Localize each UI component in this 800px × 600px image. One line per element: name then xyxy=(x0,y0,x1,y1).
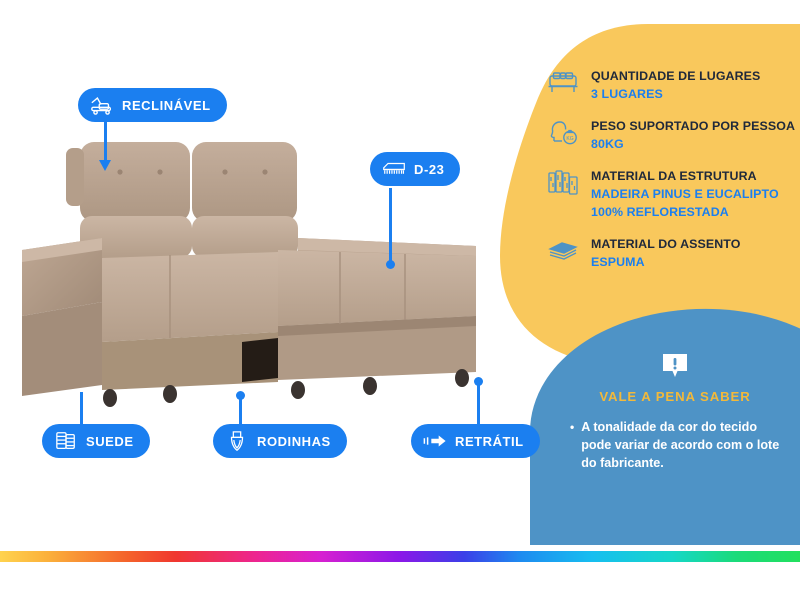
leader-dot-d23 xyxy=(386,260,395,269)
callout-label: RODINHAS xyxy=(257,434,331,449)
good-to-know-block: VALE A PENA SABER • A tonalidade da cor … xyxy=(560,352,790,473)
warning-bubble-icon xyxy=(560,352,790,380)
note-list-item: • A tonalidade da cor do tecido pode var… xyxy=(560,419,790,473)
note-title: VALE A PENA SABER xyxy=(560,389,790,404)
callout-rodinhas[interactable]: RODINHAS xyxy=(213,424,347,458)
callout-label: SUEDE xyxy=(86,434,134,449)
svg-text:KG: KG xyxy=(566,136,573,142)
leader-line-reclinavel xyxy=(104,121,107,165)
rainbow-divider xyxy=(0,551,800,562)
spec-title: PESO SUPORTADO POR PESSOA xyxy=(591,119,795,133)
infographic-canvas: QUANTIDADE DE LUGARES 3 LUGARES KG PESO … xyxy=(0,0,800,600)
spec-item-weight: KG PESO SUPORTADO POR PESSOA 80KG xyxy=(546,116,796,153)
foam-layers-icon xyxy=(546,234,580,268)
spec-title: MATERIAL DA ESTRUTURA xyxy=(591,169,757,183)
note-text: A tonalidade da cor do tecido pode varia… xyxy=(581,419,790,473)
sofa-icon xyxy=(546,66,580,100)
leader-arrow-reclinavel xyxy=(99,160,111,171)
leader-line-suede xyxy=(80,392,83,428)
callout-suede[interactable]: SUEDE xyxy=(42,424,150,458)
callout-reclinavel[interactable]: RECLINÁVEL xyxy=(78,88,227,122)
callout-retratil[interactable]: RETRÁTIL xyxy=(411,424,540,458)
person-weight-icon: KG xyxy=(546,116,580,150)
spec-item-seats: QUANTIDADE DE LUGARES 3 LUGARES xyxy=(546,66,796,103)
spec-list: QUANTIDADE DE LUGARES 3 LUGARES KG PESO … xyxy=(546,66,796,284)
spec-value: ESPUMA xyxy=(591,255,645,269)
spec-title: MATERIAL DO ASSENTO xyxy=(591,237,740,251)
fabric-swatch-icon xyxy=(54,431,78,451)
leader-dot-rodinhas xyxy=(236,391,245,400)
callout-label: D-23 xyxy=(414,162,444,177)
foam-density-icon xyxy=(382,159,406,179)
spec-value: 80KG xyxy=(591,137,624,151)
spec-item-seat-material: MATERIAL DO ASSENTO ESPUMA xyxy=(546,234,796,271)
callout-label: RECLINÁVEL xyxy=(122,98,211,113)
leader-dot-retratil xyxy=(474,377,483,386)
wood-planks-icon xyxy=(546,166,580,200)
leader-line-d23 xyxy=(389,188,392,265)
spec-item-frame: MATERIAL DA ESTRUTURA MADEIRA PINUS E EU… xyxy=(546,166,796,221)
spec-value: 3 LUGARES xyxy=(591,87,663,101)
spec-title: QUANTIDADE DE LUGARES xyxy=(591,69,760,83)
callout-label: RETRÁTIL xyxy=(455,434,524,449)
slide-arrow-icon xyxy=(423,431,447,451)
leader-line-retratil xyxy=(477,382,480,428)
recliner-icon xyxy=(90,95,114,115)
caster-wheel-icon xyxy=(225,431,249,451)
bullet-glyph: • xyxy=(570,419,574,473)
spec-value: MADEIRA PINUS E EUCALIPTO 100% REFLOREST… xyxy=(591,187,779,219)
callout-d23[interactable]: D-23 xyxy=(370,152,460,186)
